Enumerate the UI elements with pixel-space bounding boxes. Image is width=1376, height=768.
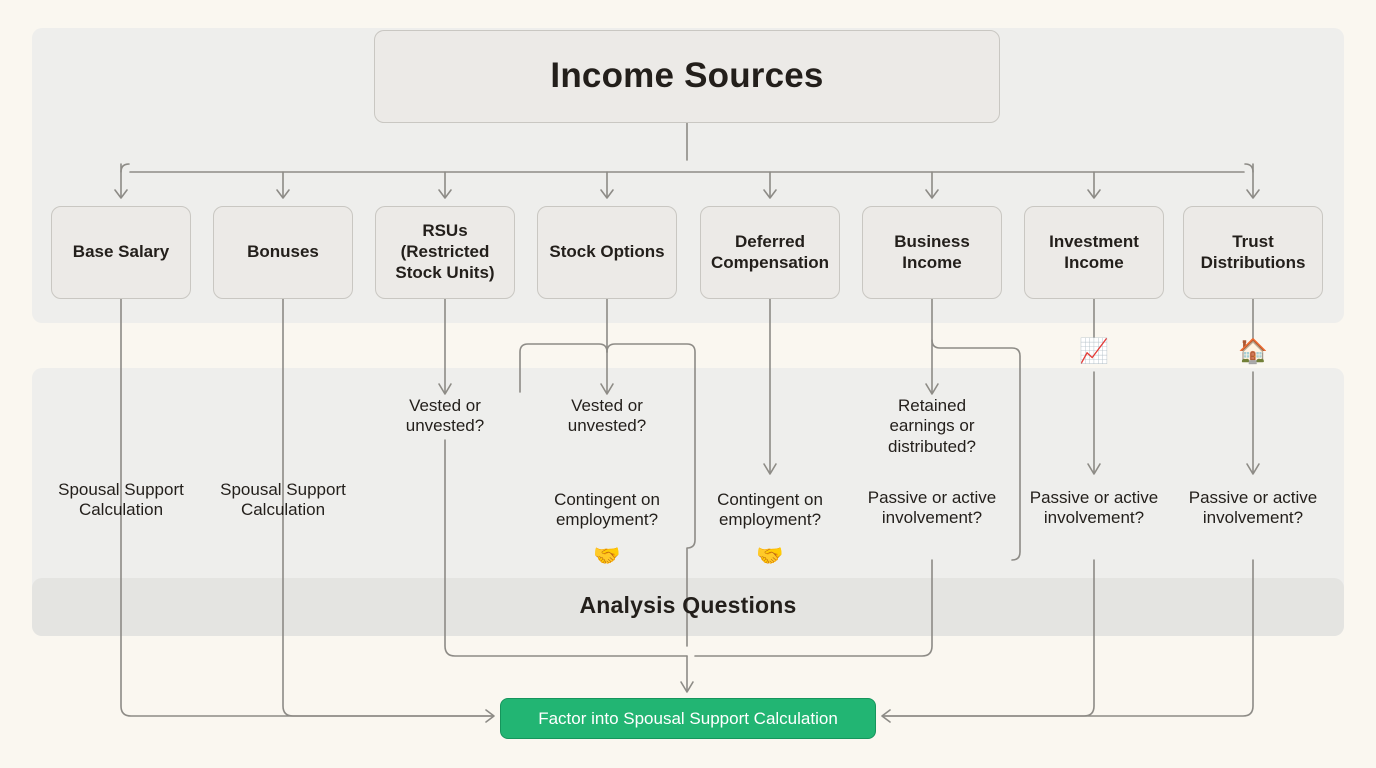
- source-node-stock-options[interactable]: Stock Options: [537, 206, 677, 299]
- source-node-base-salary[interactable]: Base Salary: [51, 206, 191, 299]
- handshake-icon-deferred: 🤝: [730, 545, 810, 567]
- result-node-spousal-support[interactable]: Factor into Spousal Support Calculation: [500, 698, 876, 739]
- source-node-investment-income[interactable]: Investment Income: [1024, 206, 1164, 299]
- question-stock-vesting: Vested or unvested?: [543, 396, 671, 437]
- source-node-rsus[interactable]: RSUs (Restricted Stock Units): [375, 206, 515, 299]
- question-investment-involvement: Passive or active involvement?: [1028, 488, 1160, 529]
- question-trust-involvement: Passive or active involvement?: [1187, 488, 1319, 529]
- source-node-deferred-compensation[interactable]: Deferred Compensation: [700, 206, 840, 299]
- handshake-icon-stock: 🤝: [567, 545, 647, 567]
- analysis-questions-title: Analysis Questions: [32, 592, 1344, 619]
- question-base-salary: Spousal Support Calculation: [51, 480, 191, 521]
- flowchart-canvas: Income Sources Base Salary Bonuses RSUs …: [0, 0, 1376, 768]
- page-title: Income Sources: [374, 30, 1000, 123]
- chart-increasing-icon: 📈: [1054, 340, 1134, 364]
- question-stock-contingent: Contingent on employment?: [537, 490, 677, 531]
- question-business-involvement: Passive or active involvement?: [866, 488, 998, 529]
- source-node-business-income[interactable]: Business Income: [862, 206, 1002, 299]
- question-rsu-vesting: Vested or unvested?: [381, 396, 509, 437]
- question-business-retained: Retained earnings or distributed?: [866, 396, 998, 457]
- question-deferred-contingent: Contingent on employment?: [700, 490, 840, 531]
- source-node-bonuses[interactable]: Bonuses: [213, 206, 353, 299]
- question-bonuses: Spousal Support Calculation: [213, 480, 353, 521]
- source-node-trust-distributions[interactable]: Trust Distributions: [1183, 206, 1323, 299]
- house-icon: 🏠: [1213, 340, 1293, 364]
